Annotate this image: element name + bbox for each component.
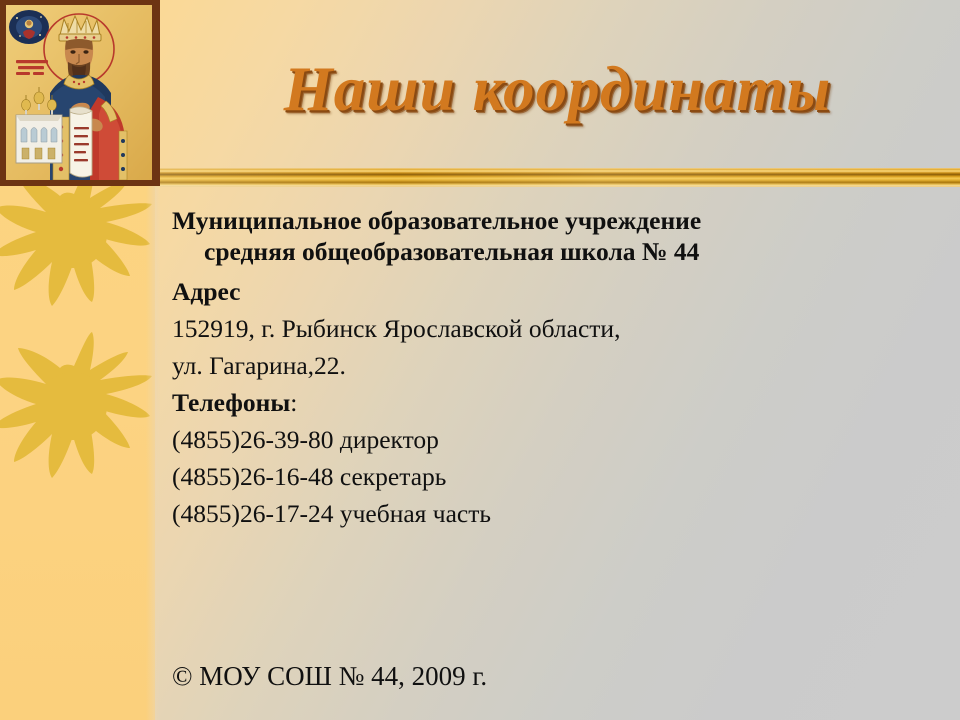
phones-label: Телефоны bbox=[172, 388, 290, 417]
address-label: Адрес bbox=[172, 273, 942, 310]
phones-label-row: Телефоны: bbox=[172, 384, 942, 421]
phone-number: (4855)26-16-48 bbox=[172, 462, 333, 491]
phone-row: (4855)26-17-24 учебная часть bbox=[172, 495, 942, 532]
sun-burst-icon bbox=[0, 330, 154, 542]
organization-name-line-1: Муниципальное образовательное учреждение bbox=[172, 205, 942, 236]
orthodox-saint-icon bbox=[0, 0, 160, 186]
organization-name-line-2: средняя общеобразовательная школа № 44 bbox=[172, 236, 942, 267]
address-line-1: 152919, г. Рыбинск Ярославской области, bbox=[172, 310, 942, 347]
phone-row: (4855)26-39-80 директор bbox=[172, 421, 942, 458]
phone-number: (4855)26-39-80 bbox=[172, 425, 333, 454]
phone-role: директор bbox=[333, 425, 438, 454]
phone-role: учебная часть bbox=[333, 499, 491, 528]
phone-role: секретарь bbox=[333, 462, 446, 491]
gold-divider-rule bbox=[155, 168, 960, 187]
contact-details: Муниципальное образовательное учреждение… bbox=[172, 205, 942, 532]
address-line-2: ул. Гагарина,22. bbox=[172, 347, 942, 384]
copyright-notice: © МОУ СОШ № 44, 2009 г. bbox=[172, 660, 487, 692]
slide-canvas: Наши координаты Муниципальное образовате… bbox=[0, 0, 960, 720]
page-title: Наши координаты bbox=[155, 58, 960, 121]
phones-label-colon: : bbox=[290, 388, 297, 417]
phone-row: (4855)26-16-48 секретарь bbox=[172, 458, 942, 495]
phone-number: (4855)26-17-24 bbox=[172, 499, 333, 528]
